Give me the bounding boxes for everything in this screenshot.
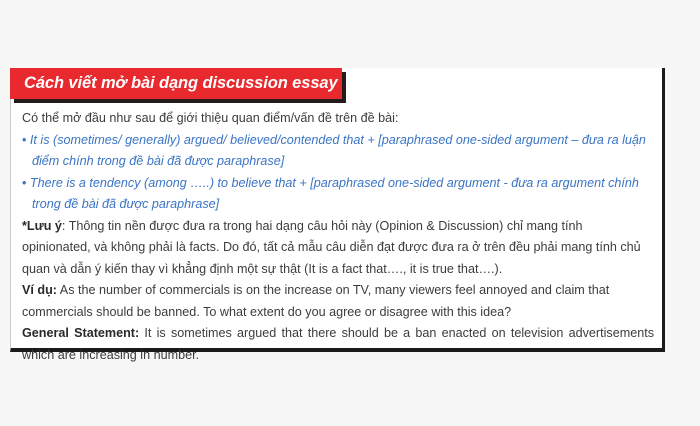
example-text: As the number of commercials is on the i… (22, 283, 609, 319)
list-item: • There is a tendency (among …..) to bel… (22, 173, 654, 216)
title-banner: Cách viết mở bài dạng discussion essay (10, 68, 342, 99)
list-item: • It is (sometimes/ generally) argued/ b… (22, 130, 654, 173)
general-statement-paragraph: General Statement: It is sometimes argue… (22, 323, 654, 366)
intro-paragraph: Có thể mở đầu như sau để giới thiệu quan… (22, 108, 654, 130)
example-label: Ví dụ: (22, 283, 57, 297)
bullet-text: It is (sometimes/ generally) argued/ bel… (30, 133, 646, 169)
note-label: *Lưu ý (22, 219, 62, 233)
note-paragraph: *Lưu ý: Thông tin nền được đưa ra trong … (22, 216, 654, 281)
lesson-body: Có thể mở đầu như sau để giới thiệu quan… (22, 108, 654, 366)
bullet-marker: • (22, 176, 26, 190)
note-text: : Thông tin nền được đưa ra trong hai dạ… (22, 219, 641, 276)
bullet-marker: • (22, 133, 26, 147)
example-paragraph: Ví dụ: As the number of commercials is o… (22, 280, 654, 323)
bullet-text: There is a tendency (among …..) to belie… (30, 176, 639, 212)
page-root: Cách viết mở bài dạng discussion essay C… (0, 0, 700, 426)
page-title: Cách viết mở bài dạng discussion essay (24, 74, 338, 93)
title-banner-body: Cách viết mở bài dạng discussion essay (10, 68, 342, 99)
general-statement-label: General Statement: (22, 326, 139, 340)
